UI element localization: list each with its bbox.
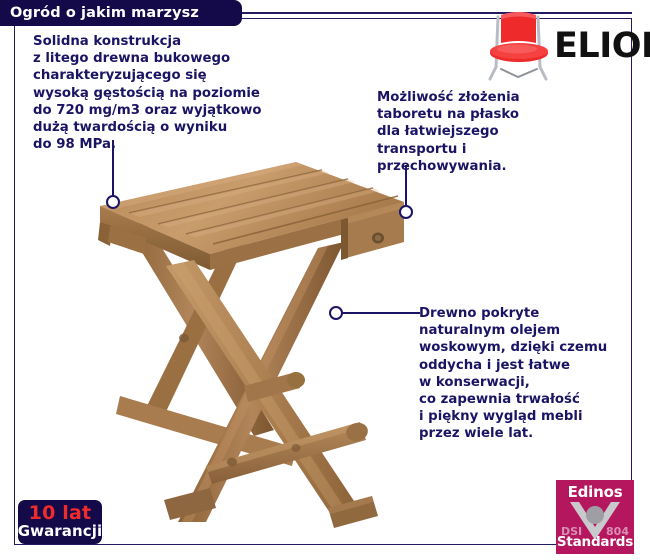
callout-2-marker [399, 205, 413, 219]
note-folding: Możliwość złożenia taboretu na płasko dl… [377, 89, 627, 175]
warranty-years: 10 lat [29, 504, 92, 523]
page-title: Ogród o jakim marzysz [0, 5, 199, 21]
warranty-label: Gwarancji [18, 523, 102, 540]
warranty-badge: 10 lat Gwarancji [18, 500, 102, 544]
standards-label: Standards [556, 534, 634, 550]
callout-1-marker [106, 195, 120, 209]
callout-3-leader-line [342, 312, 420, 314]
red-chair-icon [488, 9, 550, 83]
product-image-folding-stool [60, 130, 460, 530]
standards-badge: Edinos DSI 804 Standards [556, 480, 634, 554]
callout-3-marker [329, 306, 343, 320]
title-banner: Ogród o jakim marzysz [0, 0, 242, 26]
brand-wordmark: ELIOR [554, 29, 650, 64]
standards-brand: Edinos [556, 483, 634, 501]
note-oil: Drewno pokryte naturalnym olejem woskowy… [419, 305, 634, 443]
note-construction: Solidna konstrukcja z litego drewna buko… [33, 33, 323, 153]
brand-logo: ELIOR [488, 8, 636, 84]
